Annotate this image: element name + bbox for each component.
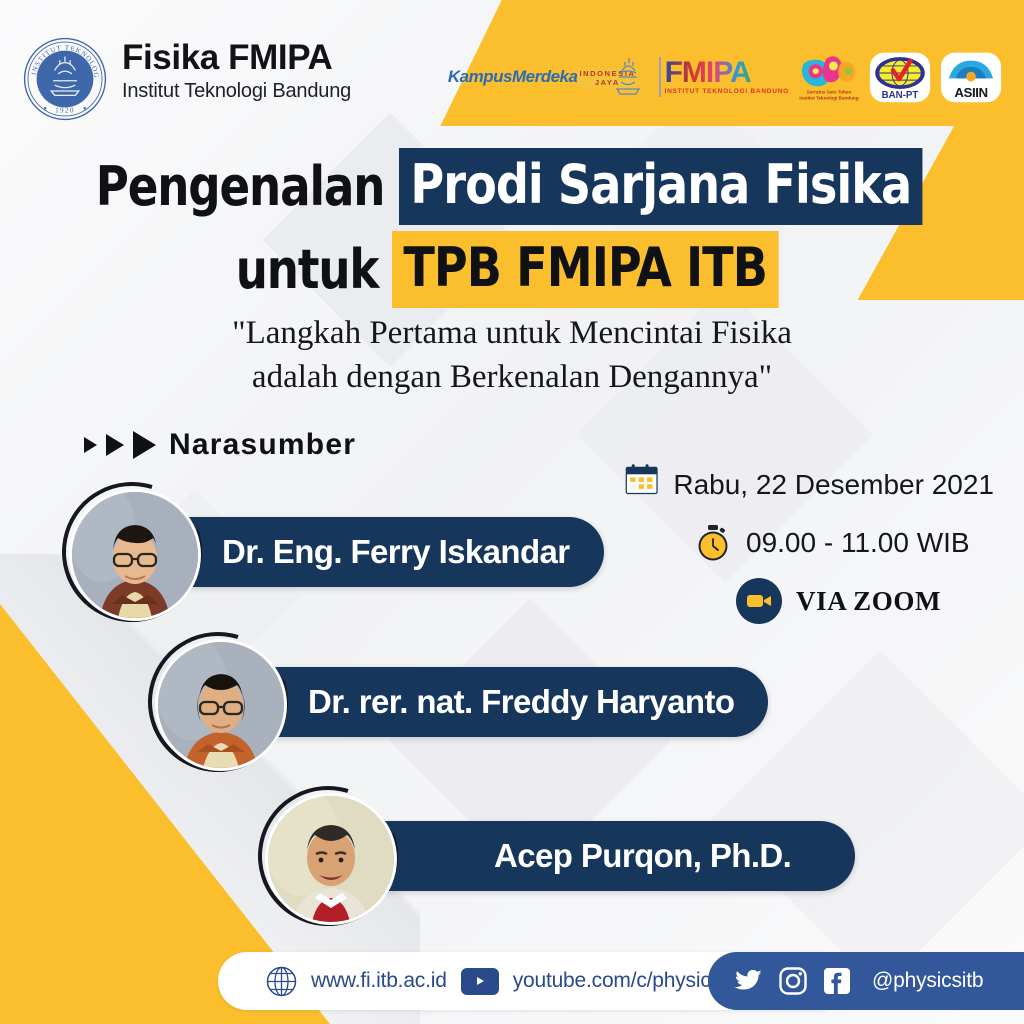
narasumber-heading: Narasumber (84, 428, 356, 462)
title-line-1: Pengenalan Prodi Sarjana Fisika (0, 148, 1024, 225)
fmipa-divider (659, 57, 661, 97)
triangle-small-icon (84, 437, 97, 453)
svg-text:ASIIN: ASIIN (954, 84, 987, 99)
title-highlight-navy: Prodi Sarjana Fisika (399, 148, 923, 225)
itb-seal-icon: INSTITUT TEKNOLOGI BANDUNG 1920 (22, 36, 108, 122)
speaker-name: Acep Purqon, Ph.D. (494, 837, 791, 875)
speaker-row: Dr. rer. nat. Freddy Haryanto (148, 632, 768, 772)
event-info-block: Rabu, 22 Desember 2021 09.00 - 11.00 WIB (624, 462, 994, 624)
itb-101-logo: Serratus Satu Tahun Institut Teknologi B… (798, 49, 860, 105)
speaker-photo (155, 639, 287, 771)
speaker-row: Acep Purqon, Ph.D. (258, 786, 855, 926)
poster-canvas: INSTITUT TEKNOLOGI BANDUNG 1920 Fisika F… (0, 0, 1024, 1024)
asiin-logo: ASIIN (940, 49, 1002, 105)
fmipa-logo: FMIPA INSTITUT TEKNOLOGI BANDUNG (659, 57, 789, 97)
speaker-photo (69, 489, 201, 621)
tagline-line-1: "Langkah Pertama untuk Mencintai Fisika (0, 312, 1024, 356)
fmipa-subtitle: INSTITUT TEKNOLOGI BANDUNG (665, 88, 789, 95)
youtube-icon[interactable] (461, 968, 499, 995)
event-time: 09.00 - 11.00 WIB (746, 527, 970, 559)
speaker-name-pill: Dr. rer. nat. Freddy Haryanto (234, 667, 768, 737)
facebook-icon[interactable] (822, 966, 852, 996)
poster-tagline: "Langkah Pertama untuk Mencintai Fisika … (0, 312, 1024, 399)
instagram-icon[interactable] (778, 966, 808, 996)
speaker-photo (265, 793, 397, 925)
narasumber-label: Narasumber (169, 428, 356, 462)
triangle-medium-icon (106, 434, 124, 456)
kampus-merdeka-line1: Kampus (448, 69, 512, 85)
svg-text:Serratus Satu Tahun: Serratus Satu Tahun (807, 89, 852, 94)
calendar-icon (624, 462, 659, 508)
avatar (258, 786, 398, 926)
partner-logo-row: Kampus Merdeka INDONESIA JAYA FMIP (489, 42, 1002, 112)
avatar (62, 482, 202, 622)
event-date: Rabu, 22 Desember 2021 (673, 469, 994, 501)
title-plain-1: Pengenalan (96, 155, 385, 218)
poster-header: INSTITUT TEKNOLOGI BANDUNG 1920 Fisika F… (0, 0, 1024, 128)
brand-subtitle: Institut Teknologi Bandung (122, 80, 351, 103)
video-camera-icon (736, 578, 782, 624)
stopwatch-icon (694, 524, 732, 562)
speaker-name-pill: Dr. Eng. Ferry Iskandar (148, 517, 604, 587)
speaker-name: Dr. rer. nat. Freddy Haryanto (308, 683, 734, 721)
title-line-2: untuk TPB FMIPA ITB (0, 231, 1024, 308)
tagline-line-2: adalah dengan Berkenalan Dengannya" (0, 356, 1024, 400)
svg-text:1920: 1920 (55, 106, 75, 115)
fmipa-wordmark: FMIPA (665, 59, 789, 87)
event-time-row: 09.00 - 11.00 WIB (694, 524, 994, 562)
itb-seal-small-icon (606, 53, 650, 101)
website-url[interactable]: www.fi.itb.ac.id (311, 969, 447, 993)
svg-text:BAN-PT: BAN-PT (882, 89, 919, 100)
speaker-name-pill: Acep Purqon, Ph.D. (344, 821, 855, 891)
speaker-name: Dr. Eng. Ferry Iskandar (222, 533, 570, 571)
event-date-row: Rabu, 22 Desember 2021 (624, 462, 994, 508)
globe-icon (266, 966, 297, 997)
svg-text:Institut Teknologi Bandung: Institut Teknologi Bandung (799, 95, 858, 100)
title-highlight-yellow: TPB FMIPA ITB (392, 231, 778, 308)
event-platform-row: VIA ZOOM (736, 578, 994, 624)
poster-title: Pengenalan Prodi Sarjana Fisika untuk TP… (0, 148, 1024, 308)
triangle-large-icon (133, 431, 156, 459)
event-platform: VIA ZOOM (796, 586, 941, 617)
twitter-icon[interactable] (734, 966, 764, 996)
title-plain-2: untuk (236, 238, 379, 301)
kampus-merdeka-line2: Merdeka (512, 69, 577, 85)
brand-title: Fisika FMIPA (122, 40, 351, 77)
social-links-bar: @physicsitb (708, 952, 1024, 1010)
brand-block: Fisika FMIPA Institut Teknologi Bandung (122, 40, 351, 103)
avatar (148, 632, 288, 772)
speaker-row: Dr. Eng. Ferry Iskandar (62, 482, 604, 622)
ban-pt-logo: BAN-PT (869, 49, 931, 105)
social-handle: @physicsitb (872, 969, 983, 993)
kampus-merdeka-logo: Kampus Merdeka INDONESIA JAYA (489, 66, 597, 88)
